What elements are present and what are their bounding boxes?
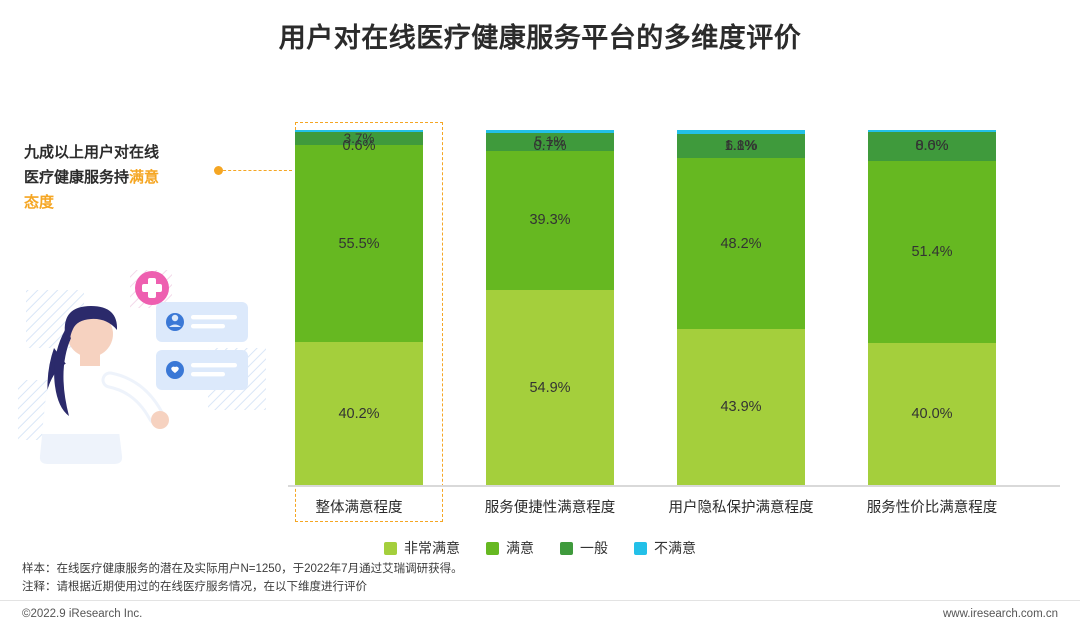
- bar-top-label: 0.7%: [486, 138, 614, 154]
- footnote-sample: 样本：在线医疗健康服务的潜在及实际用户N=1250，于2022年7月通过艾瑞调研…: [22, 560, 722, 578]
- stacked-bar: 5.1%39.3%54.9%: [486, 130, 614, 485]
- bar-column: 8.0%51.4%40.0%: [868, 130, 996, 485]
- annotation-highlight-1: 满意: [129, 169, 159, 186]
- bar-top-label: 0.6%: [295, 138, 423, 154]
- bar-segment: 39.3%: [486, 151, 614, 291]
- bar-top-label: 1.1%: [677, 138, 805, 154]
- bar-segment-label: 51.4%: [911, 244, 952, 260]
- footnotes: 样本：在线医疗健康服务的潜在及实际用户N=1250，于2022年7月通过艾瑞调研…: [22, 560, 722, 596]
- bar-segment-label: 40.2%: [338, 406, 379, 422]
- legend-item: 一般: [560, 538, 608, 558]
- legend-item: 非常满意: [384, 538, 460, 558]
- bar-segment-label: 43.9%: [720, 399, 761, 415]
- legend-swatch: [486, 542, 499, 555]
- annotation-text: 九成以上用户对在线 医疗健康服务持满意 态度: [24, 140, 214, 215]
- illustration: [18, 230, 278, 480]
- annotation-line-2: 医疗健康服务持: [24, 169, 129, 186]
- bar-segment-label: 40.0%: [911, 406, 952, 422]
- legend-label: 不满意: [654, 538, 696, 558]
- bar-column: 5.1%39.3%54.9%: [486, 130, 614, 485]
- chart-legend: 非常满意满意一般不满意: [0, 538, 1080, 558]
- x-axis-category-label: 用户隐私保护满意程度: [651, 496, 831, 517]
- legend-label: 一般: [580, 538, 608, 558]
- bar-column: 3.7%55.5%40.2%: [295, 130, 423, 485]
- bar-segment: 51.4%: [868, 161, 996, 343]
- chart-baseline: [288, 485, 1060, 487]
- stacked-bar: 6.8%48.2%43.9%: [677, 130, 805, 485]
- leader-line: [218, 170, 292, 172]
- x-axis-category-label: 整体满意程度: [269, 496, 449, 517]
- legend-label: 非常满意: [404, 538, 460, 558]
- bar-segment-label: 48.2%: [720, 236, 761, 252]
- page-title: 用户对在线医疗健康服务平台的多维度评价: [0, 16, 1080, 55]
- legend-swatch: [384, 542, 397, 555]
- website-text: www.iresearch.com.cn: [943, 608, 1058, 620]
- x-axis-category-label: 服务便捷性满意程度: [460, 496, 640, 517]
- legend-swatch: [560, 542, 573, 555]
- stacked-bar-chart: 3.7%55.5%40.2%0.6%5.1%39.3%54.9%0.7%6.8%…: [288, 130, 1060, 485]
- bar-segment: 43.9%: [677, 329, 805, 485]
- legend-item: 不满意: [634, 538, 696, 558]
- footnote-note: 注释：请根据近期使用过的在线医疗服务情况，在以下维度进行评价: [22, 578, 722, 596]
- slide-root: 用户对在线医疗健康服务平台的多维度评价 九成以上用户对在线 医疗健康服务持满意 …: [0, 0, 1080, 636]
- annotation-highlight-2: 态度: [24, 194, 54, 211]
- annotation-line-1: 九成以上用户对在线: [24, 144, 159, 161]
- legend-item: 满意: [486, 538, 534, 558]
- bar-segment: 40.0%: [868, 343, 996, 485]
- copyright-text: ©2022.9 iResearch Inc.: [22, 608, 142, 620]
- bar-top-label: 0.6%: [868, 138, 996, 154]
- bar-segment-label: 39.3%: [529, 212, 570, 228]
- bar-segment-label: 54.9%: [529, 380, 570, 396]
- stacked-bar: 8.0%51.4%40.0%: [868, 130, 996, 485]
- legend-swatch: [634, 542, 647, 555]
- stacked-bar: 3.7%55.5%40.2%: [295, 130, 423, 485]
- bar-segment: 40.2%: [295, 342, 423, 485]
- bar-segment: 54.9%: [486, 290, 614, 485]
- legend-label: 满意: [506, 538, 534, 558]
- bar-segment: 48.2%: [677, 158, 805, 329]
- bar-column: 6.8%48.2%43.9%: [677, 130, 805, 485]
- bar-segment: 55.5%: [295, 145, 423, 342]
- footer-divider: [0, 600, 1080, 601]
- bar-segment-label: 55.5%: [338, 236, 379, 252]
- x-axis-category-label: 服务性价比满意程度: [842, 496, 1022, 517]
